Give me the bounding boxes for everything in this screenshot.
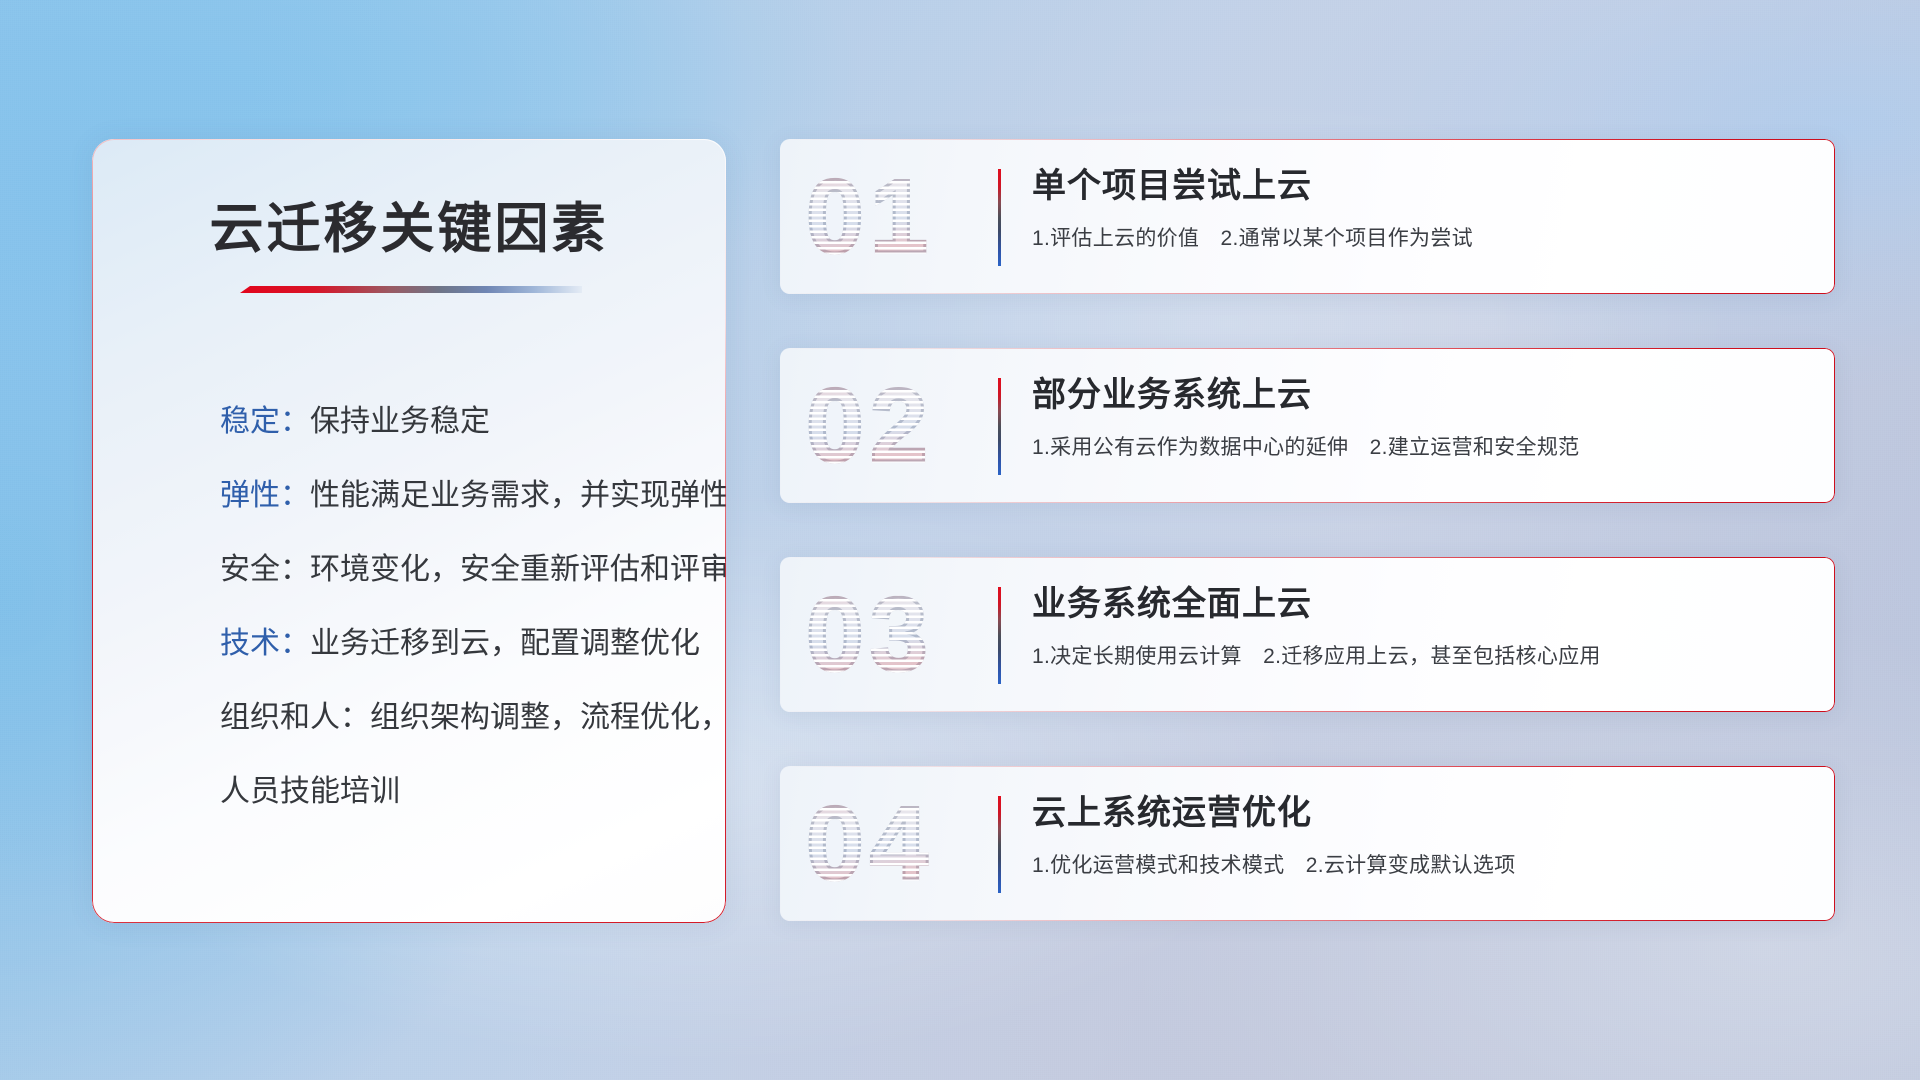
factor-label-technology: 技术： [220,627,310,660]
step-card-01[interactable]: 01 01 单个项目尝试上云 1.评估上云的价值 2.通常以某个项目作为尝试 [780,139,1835,294]
step-divider-04 [998,796,1001,893]
step-text-03: 业务系统全面上云 1.决定长期使用云计算 2.迁移应用上云，甚至包括核心应用 [1032,583,1799,670]
title-underline-rule [240,286,582,293]
step-text-01: 单个项目尝试上云 1.评估上云的价值 2.通常以某个项目作为尝试 [1032,165,1799,252]
key-factors-panel: 云迁移关键因素 稳定：保持业务稳定 弹性：性能满足业务需求，并实现弹性 安全：环… [92,139,726,923]
step-number-02: 02 [806,374,934,478]
factor-item-organization: 组织和人：组织架构调整，流程优化， [220,681,686,755]
step-title-01: 单个项目尝试上云 [1032,165,1799,209]
step-number-03: 03 [806,583,934,687]
factor-label-organization: 组织和人： [220,701,370,734]
factor-list: 稳定：保持业务稳定 弹性：性能满足业务需求，并实现弹性 安全：环境变化，安全重新… [220,385,686,829]
factor-value-security: 环境变化，安全重新评估和评审 [310,553,726,586]
factor-value-organization-cont: 人员技能培训 [220,775,400,808]
step-card-02[interactable]: 02 02 部分业务系统上云 1.采用公有云作为数据中心的延伸 2.建立运营和安… [780,348,1835,503]
factor-item-technology: 技术：业务迁移到云，配置调整优化 [220,607,686,681]
step-title-04: 云上系统运营优化 [1032,792,1799,836]
factor-item-elasticity: 弹性：性能满足业务需求，并实现弹性 [220,459,686,533]
factor-item-stability: 稳定：保持业务稳定 [220,385,686,459]
factor-value-elasticity: 性能满足业务需求，并实现弹性 [310,479,726,512]
step-number-graphic-04: 04 04 [780,766,1010,921]
step-card-04[interactable]: 04 04 云上系统运营优化 1.优化运营模式和技术模式 2.云计算变成默认选项 [780,766,1835,921]
step-number-01: 01 [806,165,934,269]
step-desc-01: 1.评估上云的价值 2.通常以某个项目作为尝试 [1032,222,1799,252]
migration-steps-list: 01 01 单个项目尝试上云 1.评估上云的价值 2.通常以某个项目作为尝试 0… [780,139,1835,975]
step-divider-03 [998,587,1001,684]
step-number-graphic-03: 03 03 [780,557,1010,712]
step-desc-04: 1.优化运营模式和技术模式 2.云计算变成默认选项 [1032,849,1799,879]
factor-label-stability: 稳定： [220,405,310,438]
step-number-graphic-02: 02 02 [780,348,1010,503]
factor-label-security: 安全： [220,553,310,586]
factor-value-organization: 组织架构调整，流程优化， [370,701,726,734]
factor-item-organization-cont: 人员技能培训 [220,755,686,829]
step-desc-03: 1.决定长期使用云计算 2.迁移应用上云，甚至包括核心应用 [1032,640,1799,670]
step-card-03[interactable]: 03 03 业务系统全面上云 1.决定长期使用云计算 2.迁移应用上云，甚至包括… [780,557,1835,712]
step-divider-01 [998,169,1001,266]
step-title-02: 部分业务系统上云 [1032,374,1799,418]
factor-value-technology: 业务迁移到云，配置调整优化 [310,627,700,660]
page-title: 云迁移关键因素 [92,184,726,263]
step-title-03: 业务系统全面上云 [1032,583,1799,627]
factor-item-security: 安全：环境变化，安全重新评估和评审 [220,533,686,607]
step-number-graphic-01: 01 01 [780,139,1010,294]
factor-label-elasticity: 弹性： [220,479,310,512]
step-divider-02 [998,378,1001,475]
step-number-04: 04 [806,792,934,896]
step-text-02: 部分业务系统上云 1.采用公有云作为数据中心的延伸 2.建立运营和安全规范 [1032,374,1799,461]
step-text-04: 云上系统运营优化 1.优化运营模式和技术模式 2.云计算变成默认选项 [1032,792,1799,879]
factor-value-stability: 保持业务稳定 [310,405,490,438]
step-desc-02: 1.采用公有云作为数据中心的延伸 2.建立运营和安全规范 [1032,431,1799,461]
